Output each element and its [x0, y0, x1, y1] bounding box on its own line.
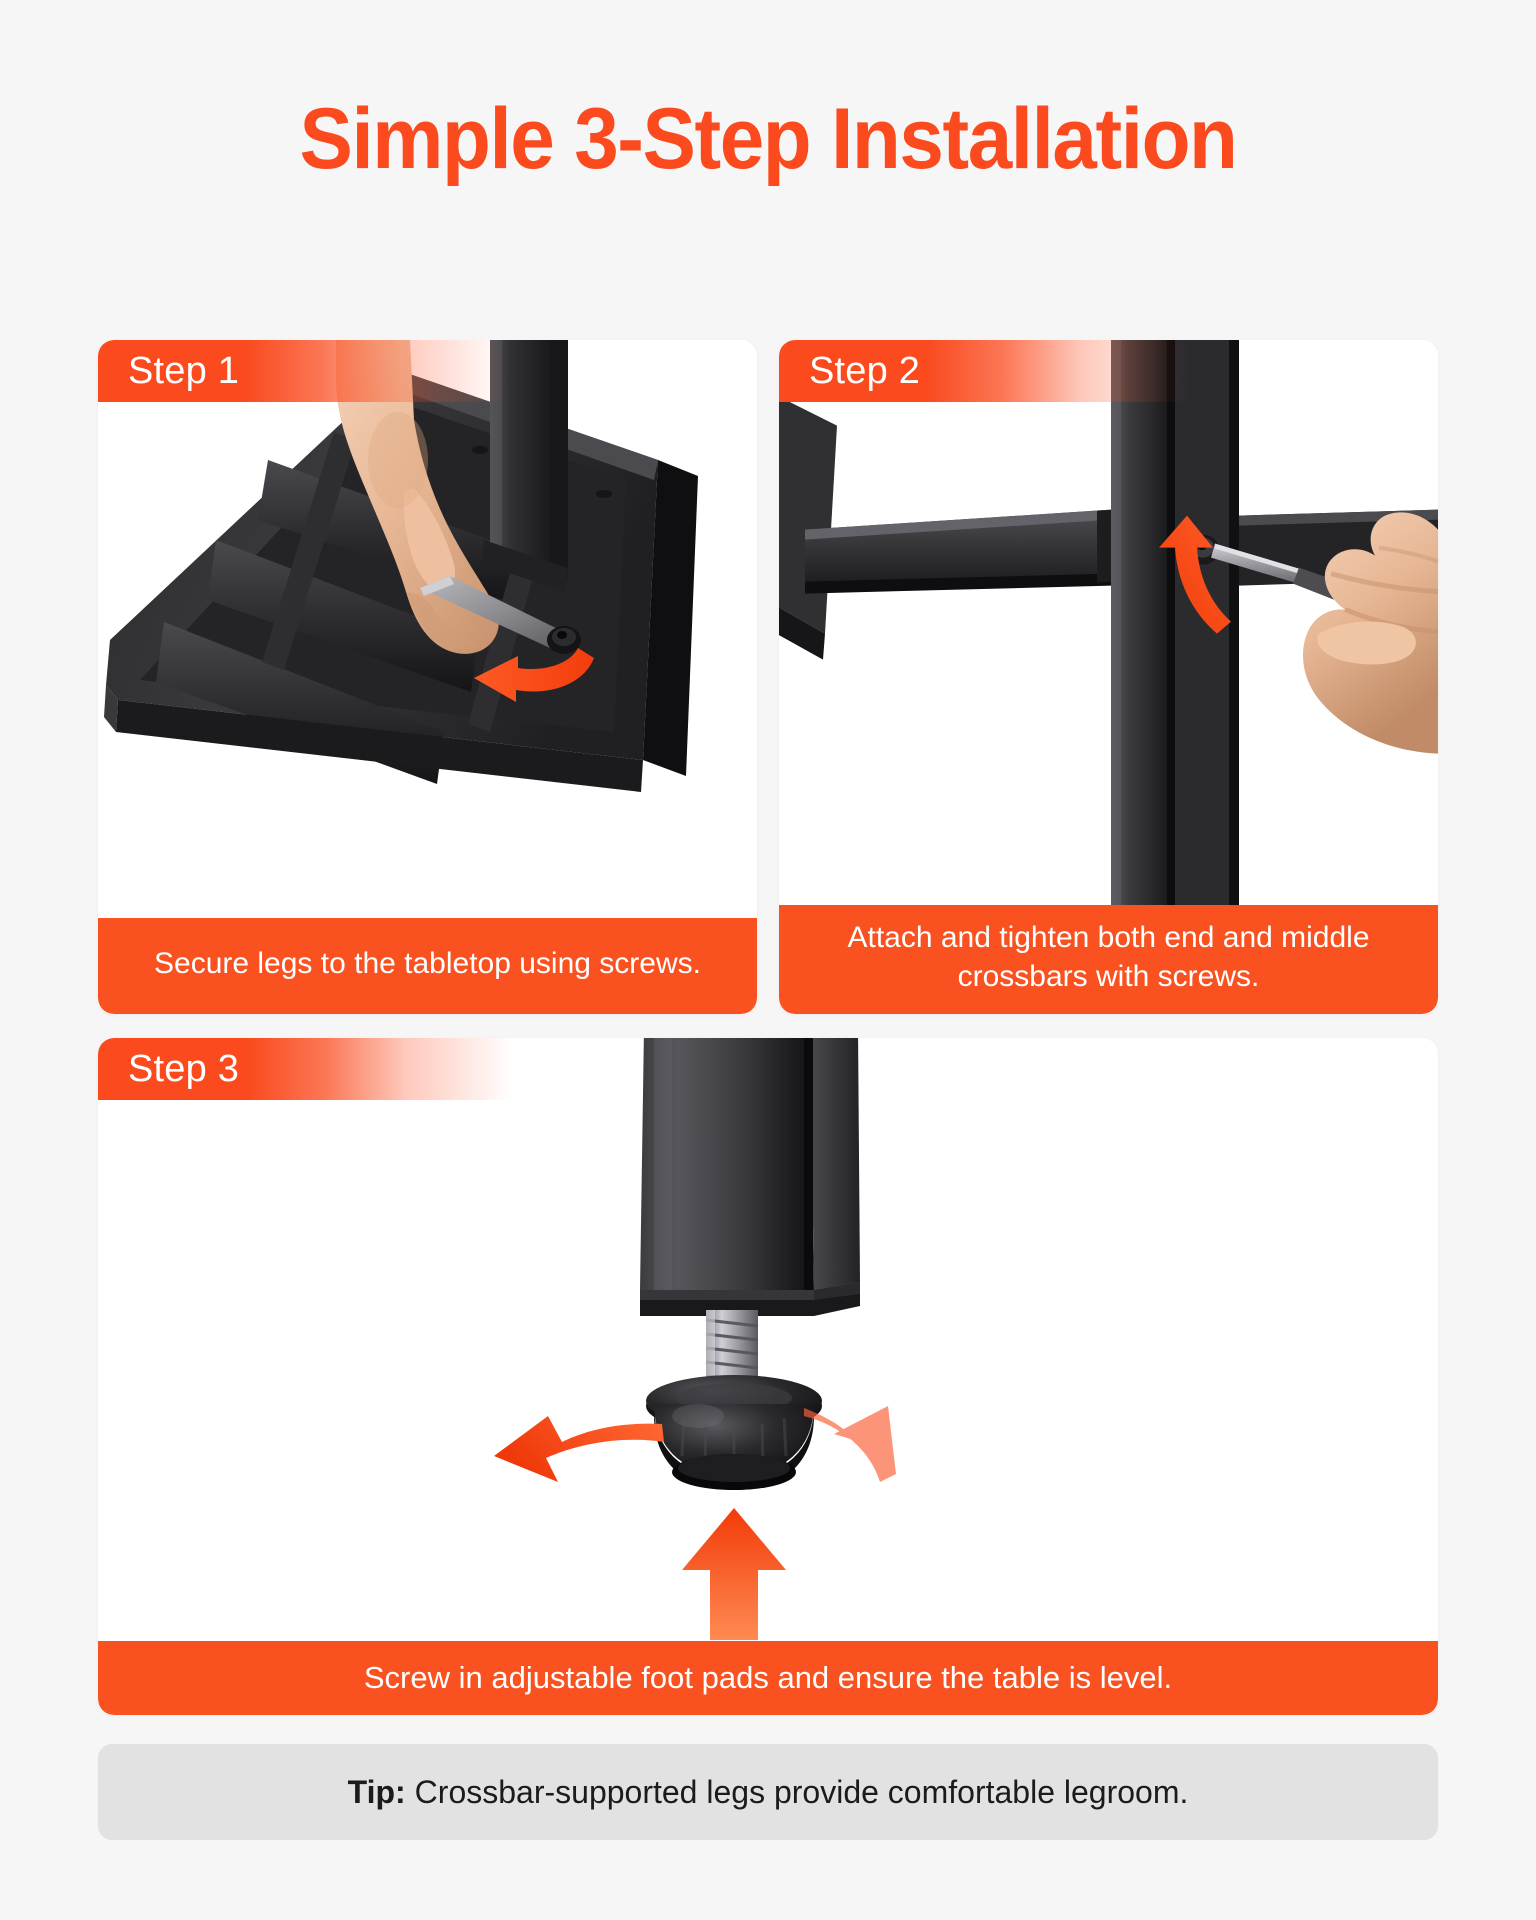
adjustable-foot-pad: [646, 1375, 822, 1490]
step-2-illustration: [779, 340, 1438, 905]
tip-bar: Tip: Crossbar-supported legs provide com…: [98, 1744, 1438, 1840]
step-card-3: Step 3 Screw in adjustable foot pads and…: [98, 1038, 1438, 1715]
step-2-caption: Attach and tighten both end and middle c…: [779, 905, 1438, 1014]
step-1-caption: Secure legs to the tabletop using screws…: [98, 918, 757, 1014]
infographic-page: Simple 3-Step Installation: [0, 0, 1536, 1920]
step-3-illustration: [98, 1038, 1438, 1641]
step-card-2: Step 2 Attach and tighten both end and m…: [779, 340, 1438, 1014]
steps-grid: Step 1 Secure legs to the tabletop using…: [98, 340, 1438, 1715]
step-1-photo: [98, 340, 757, 918]
tip-label: Tip:: [348, 1774, 406, 1811]
step-3-caption: Screw in adjustable foot pads and ensure…: [98, 1641, 1438, 1715]
table-leg: [482, 340, 568, 592]
steps-row-bottom: Step 3 Screw in adjustable foot pads and…: [98, 1038, 1438, 1715]
step-card-1: Step 1 Secure legs to the tabletop using…: [98, 340, 757, 1014]
tip-text: Crossbar-supported legs provide comforta…: [415, 1774, 1189, 1811]
table-leg: [640, 1038, 860, 1316]
step-2-photo: [779, 340, 1438, 905]
page-title: Simple 3-Step Installation: [54, 96, 1482, 182]
step-3-photo: [98, 1038, 1438, 1641]
step-1-illustration: [98, 340, 757, 918]
page-title-wrap: Simple 3-Step Installation: [0, 96, 1536, 182]
steps-row-top: Step 1 Secure legs to the tabletop using…: [98, 340, 1438, 1014]
